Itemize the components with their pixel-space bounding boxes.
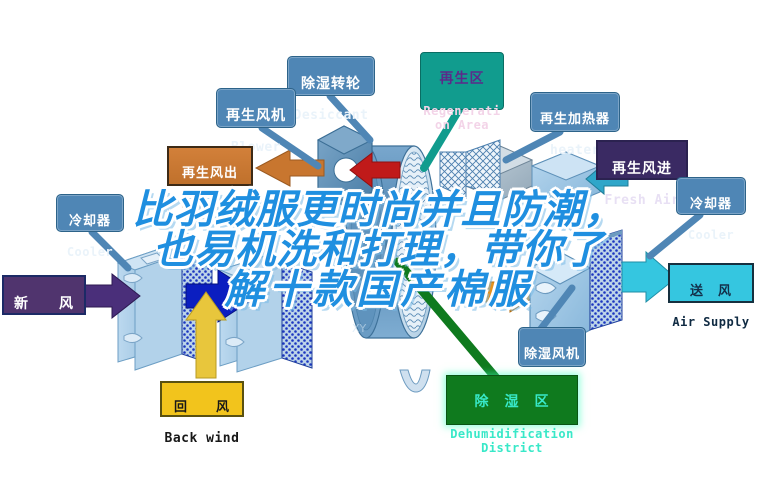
- label-regeneration-fresh-air[interactable]: 再生风进 Fresh Air: [596, 140, 688, 180]
- label-back-wind-cn: 回 风: [162, 401, 242, 415]
- filter-mesh-mid: [282, 262, 312, 368]
- label-desiccant-rotor[interactable]: 除湿转轮 Desiccant: [287, 56, 375, 96]
- label-desiccant-rotor-en: Desiccant: [288, 109, 374, 123]
- label-regeneration-fresh-air-en: Fresh Air: [598, 194, 686, 208]
- label-regeneration-blower[interactable]: 再生风机 Blower: [216, 88, 296, 128]
- diagram-canvas: XY: [0, 0, 757, 488]
- label-cooler-left[interactable]: 冷却器 Cooler: [56, 194, 124, 232]
- label-regeneration-heater[interactable]: 再生加热器 heater: [530, 92, 620, 132]
- label-dehumidification-district[interactable]: 除 湿 区 Dehumidification District: [446, 375, 578, 425]
- label-regeneration-area-en: Regenerati on Area: [421, 104, 503, 132]
- label-dehumidification-district-cn: 除 湿 区: [447, 395, 577, 410]
- svg-text:XY: XY: [352, 322, 367, 335]
- label-air-supply[interactable]: 送 风 Air Supply: [668, 263, 754, 303]
- label-regeneration-fresh-air-cn: 再生风进: [598, 162, 686, 177]
- label-fresh-air-in-en: Fresh Air: [4, 329, 84, 343]
- label-cooler-right-cn: 冷却器: [677, 198, 745, 212]
- label-back-wind[interactable]: 回 风 Back wind: [160, 381, 244, 417]
- label-fresh-air-in[interactable]: 新 风 Fresh Air: [2, 275, 86, 315]
- label-exhaust-en: Exhaust: [169, 198, 251, 212]
- label-regeneration-blower-cn: 再生风机: [217, 109, 295, 124]
- label-air-supply-cn: 送 风: [670, 285, 752, 299]
- label-cooler-right-en: Cooler: [677, 229, 745, 242]
- label-exhaust-cn: 再生风出: [169, 167, 251, 181]
- label-dehumidification-blower[interactable]: 除湿风机 Blower: [518, 327, 586, 367]
- label-cooler-left-cn: 冷却器: [57, 215, 123, 229]
- label-cooler-right[interactable]: 冷却器 Cooler: [676, 177, 746, 215]
- label-fresh-air-in-cn: 新 风: [4, 297, 84, 312]
- label-air-supply-en: Air Supply: [670, 316, 752, 329]
- label-cooler-left-en: Cooler: [57, 246, 123, 259]
- label-regeneration-area[interactable]: 再生区 Regenerati on Area: [420, 52, 504, 110]
- regeneration-heater-mesh: [440, 140, 500, 198]
- label-desiccant-rotor-cn: 除湿转轮: [288, 77, 374, 92]
- rotor-drive-belt: [400, 370, 430, 392]
- label-exhaust[interactable]: 再生风出 Exhaust: [167, 146, 253, 186]
- supply-filter-mesh: [590, 230, 622, 330]
- label-regeneration-area-cn: 再生区: [421, 72, 503, 87]
- label-back-wind-en: Back wind: [162, 432, 242, 446]
- label-regeneration-heater-cn: 再生加热器: [531, 113, 619, 127]
- label-dehumidification-district-en: Dehumidification District: [447, 427, 577, 455]
- label-dehumidification-blower-cn: 除湿风机: [519, 348, 585, 362]
